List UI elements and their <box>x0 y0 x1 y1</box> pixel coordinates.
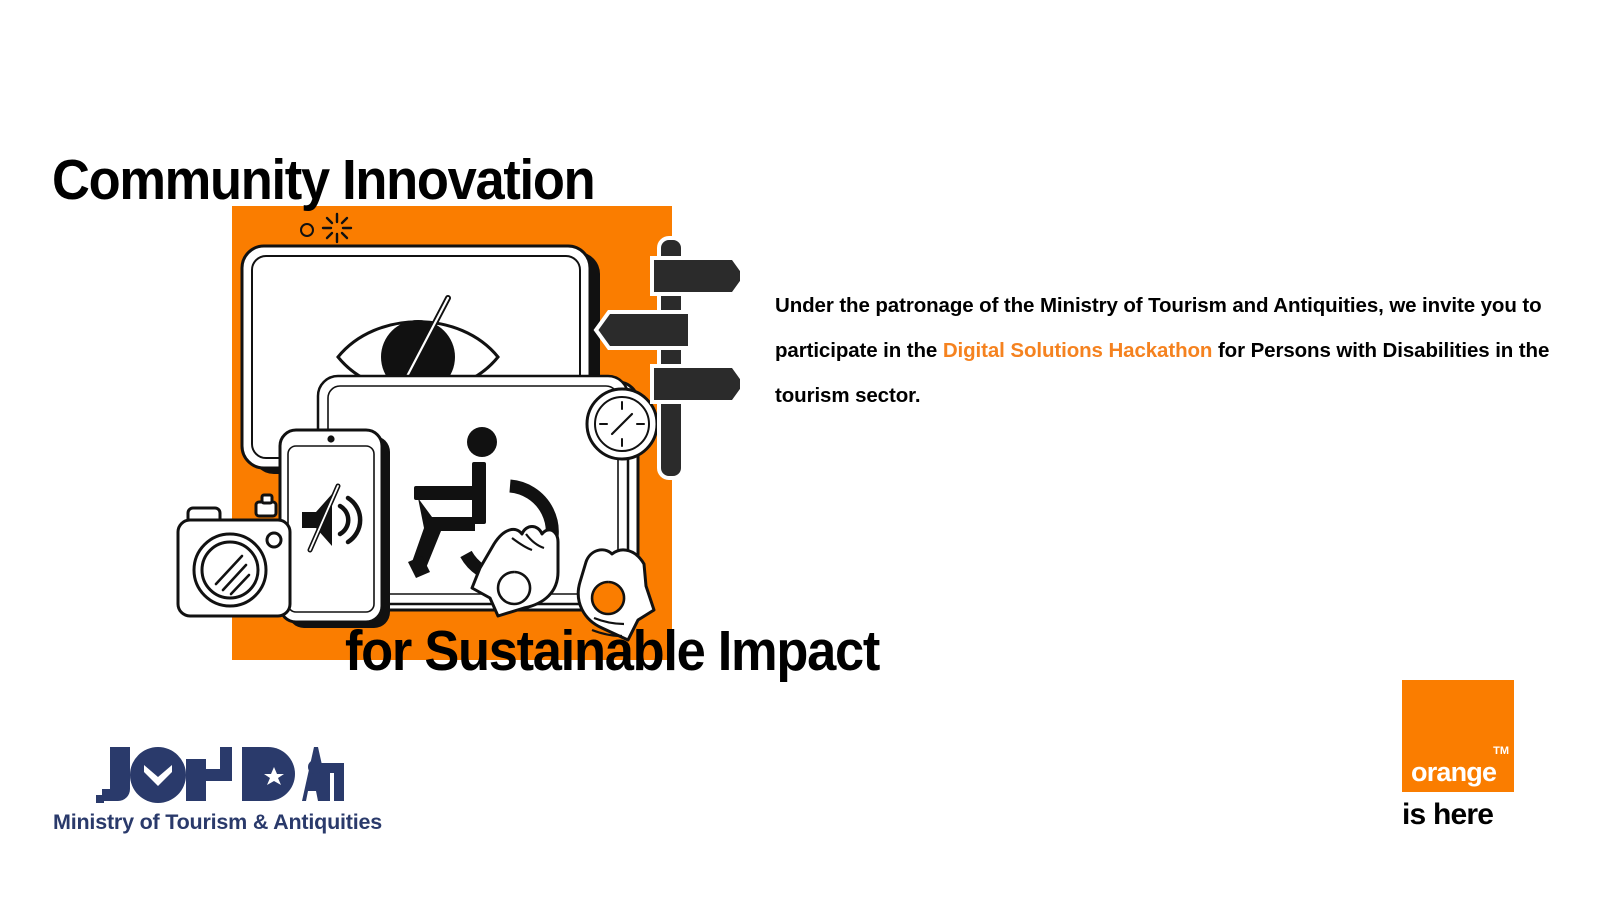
jordan-wordmark-icon <box>52 745 344 807</box>
jordan-logo-subtitle: Ministry of Tourism & Antiquities <box>53 810 382 835</box>
body-paragraph: Under the patronage of the Ministry of T… <box>775 283 1550 418</box>
jordan-ministry-logo <box>52 745 344 812</box>
page-title-line-2: for Sustainable Impact <box>345 623 879 680</box>
orange-logo-square: orange TM <box>1402 680 1514 792</box>
orange-wordmark: orange <box>1411 759 1496 786</box>
trademark-icon: TM <box>1493 746 1509 757</box>
orange-brand-logo: orange TM is here <box>1402 680 1514 831</box>
hero-illustration <box>160 190 740 660</box>
phone-mute-icon <box>280 430 390 628</box>
page-title-line-1: Community Innovation <box>52 152 594 209</box>
body-highlight: Digital Solutions Hackathon <box>943 339 1213 362</box>
compass-icon <box>587 389 657 459</box>
orange-tagline: is here <box>1402 798 1514 831</box>
